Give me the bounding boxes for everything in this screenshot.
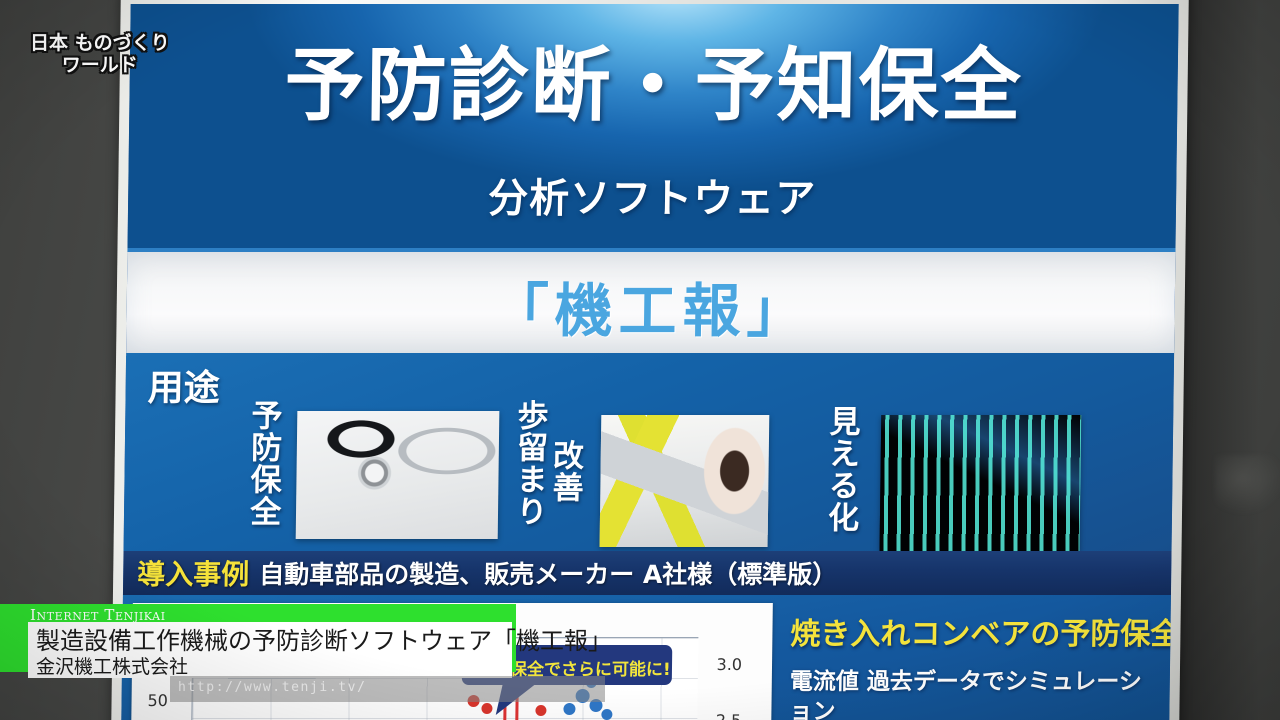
lower-third-title: 製造設備工作機械の予防診断ソフトウェア「機工報」 xyxy=(36,621,612,656)
channel-watermark: 日本 ものづくり ワールド xyxy=(30,32,170,77)
wall-scuff xyxy=(1215,455,1280,515)
lower-third-title-box: 製造設備工作機械の予防診断ソフトウェア「機工報」 金沢機工株式会社 xyxy=(28,622,512,678)
url-overlay: http://www.tenji.tv/ xyxy=(170,676,605,702)
usage-label-budomari: 歩留まり xyxy=(512,399,546,527)
stethoscope-photo xyxy=(296,411,500,539)
case-study-tag: 導入事例 xyxy=(137,553,250,593)
product-name-band: 「機工報」 xyxy=(126,248,1175,361)
case-study-bar: 導入事例 自動車部品の製造、販売メーカー A社様（標準版） xyxy=(123,551,1172,595)
usage-label-mieruka: 見える化 xyxy=(824,405,858,533)
product-name: 「機工報」 xyxy=(126,264,1175,348)
chart-ytick-50: 50 xyxy=(147,691,168,710)
watermark-line-2: ワールド xyxy=(30,54,170,76)
right-detail-block: 焼き入れコンベアの予防保全 電流値 過去データでシミュレーション 結果…コンベア… xyxy=(788,609,1162,720)
usage-heading: 用途 xyxy=(147,359,220,411)
right-detail-title: 焼き入れコンベアの予防保全 xyxy=(790,609,1163,653)
watermark-line-1: 日本 ものづくり xyxy=(30,32,170,54)
usage-label-yobouhozen: 予防保全 xyxy=(246,399,280,527)
factory-robot-photo xyxy=(600,415,770,547)
chart-point xyxy=(563,703,575,715)
chart-ytick-30: 3.0 xyxy=(716,655,742,674)
poster-hero: 予防診断・予知保全 分析ソフトウェア xyxy=(127,4,1178,248)
usage-section: 用途 予防保全 歩留まり 改善 見える化 xyxy=(124,353,1175,551)
right-detail-line1: 電流値 過去データでシミュレーション xyxy=(789,667,1162,720)
lower-third-company: 金沢機工株式会社 xyxy=(36,652,188,679)
waveform-chart-photo xyxy=(880,415,1082,551)
url-text: http://www.tenji.tv/ xyxy=(178,680,367,695)
chart-ytick-25: 2.5 xyxy=(716,711,742,720)
poster-title: 予防診断・予知保全 xyxy=(129,44,1178,127)
case-study-text: 自動車部品の製造、販売メーカー A社様（標準版） xyxy=(259,555,838,591)
video-frame: 予防診断・予知保全 分析ソフトウェア 「機工報」 用途 予防保全 歩留まり 改善… xyxy=(0,0,1280,720)
wall-shadow xyxy=(1175,0,1280,720)
poster-subtitle: 分析ソフトウェア xyxy=(128,166,1177,224)
usage-label-kaizen: 改善 xyxy=(548,439,581,503)
